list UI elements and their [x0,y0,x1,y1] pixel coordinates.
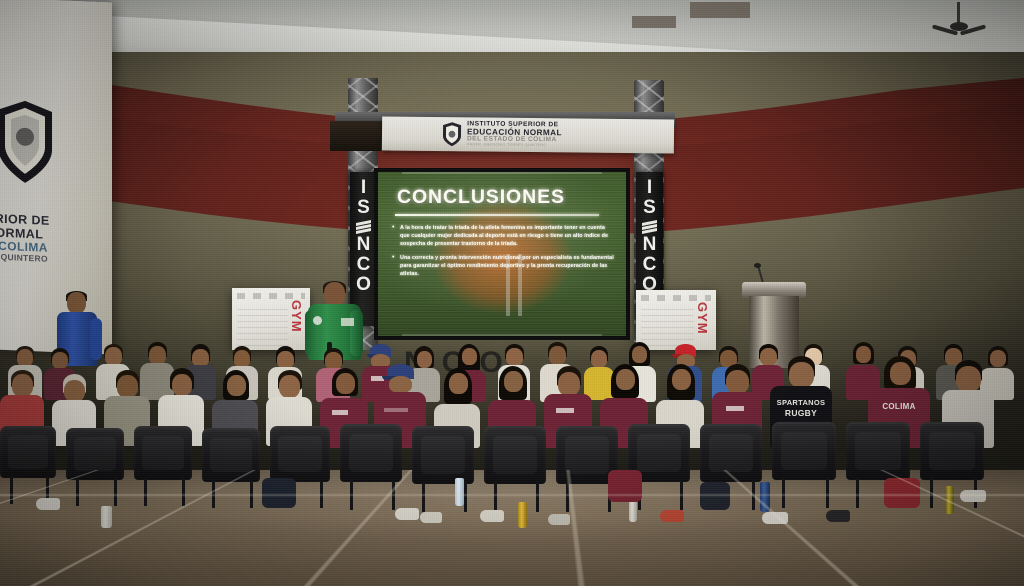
chair-12 [772,422,836,480]
chair-leg-8 [494,482,497,512]
team-logo [726,406,744,411]
fan-rod [957,2,960,24]
tower-left-letter-3: C [357,255,371,275]
head [52,352,68,369]
sneaker-8 [960,490,986,502]
water-bottle-6 [101,506,112,528]
slide-bullet-2-text: Una correcta y pronta intervención nutri… [400,254,614,278]
presenter-shirt-logo [313,316,322,325]
sneaker-2 [420,512,442,523]
header-institution-banner: INSTITUTO SUPERIOR DE EDUCACIÓN NORMAL D… [382,116,674,153]
chair-8 [484,426,546,484]
head [172,374,192,396]
standing-attendee-head [67,292,86,314]
side-banner-right-logos [641,295,711,301]
chair-leg-14 [930,478,933,508]
head [117,375,138,398]
ceiling-vent-2 [690,2,750,18]
sneaker-9 [36,498,60,510]
sneaker-7 [826,510,850,522]
chair-1 [0,426,56,478]
chair-4 [202,428,260,482]
chair-5 [270,426,330,482]
head [549,346,566,365]
chair-2 [66,428,124,480]
chair-3 [134,426,192,480]
sneaker-1 [395,508,419,520]
water-bottle-5 [945,486,954,514]
shirt-text-spartanos: SPARTANOS [770,398,832,407]
sneaker-6 [762,512,788,524]
presenter-head [324,282,345,306]
chair-leg-6b [392,480,395,510]
chair-leg-7b [464,482,467,512]
team-logo [556,408,574,413]
slide-title-underline [395,214,599,216]
head [506,348,523,366]
projection-screen: CONCLUSIONES • A la hora de tratar la tr… [378,172,626,336]
sneaker-3 [480,510,504,522]
audience: SPARTANOS RUGBY COLIMA [0,330,1024,530]
chair-14 [920,422,984,480]
head [504,371,523,392]
head [449,373,468,394]
institution-crest-icon [0,98,56,187]
water-bottle-2 [760,482,770,512]
tower-right-letter-1: S [643,198,656,218]
shirt-text-colima: COLIMA [868,402,930,411]
chair-7 [412,426,474,484]
ceiling-vent-3 [632,16,676,28]
head [890,362,911,385]
chair-11 [700,424,762,482]
slide-bullet-2: • Una correcta y pronta intervención nut… [392,254,614,278]
sneaker-4 [548,514,570,525]
head [789,362,814,388]
head [956,366,981,392]
slide-title: CONCLUSIONES [397,186,565,209]
chair-leg-12b [826,478,829,508]
chair-leg-12 [782,478,785,508]
chair-6 [340,424,402,482]
chair-leg-4b [250,480,253,508]
slide-bullet-1: • A la hora de tratar la tríada de la at… [392,224,614,248]
tower-right-letter-2: N [643,235,657,255]
head [616,369,635,390]
bullet-marker-2: • [392,254,396,278]
tower-right-letter-0: I [647,178,652,198]
left-banner-text: ERIOR DE NORMAL E COLIMA ES QUINTERO [0,211,112,267]
head [12,374,33,397]
slide-bullet-list: • A la hora de tratar la tríada de la at… [392,224,614,285]
backpack-4 [700,482,730,510]
water-bottle-1 [455,478,464,506]
tower-right-letter-3: C [643,255,657,275]
sneaker-5 [660,510,684,522]
shirt-text-rugby: RUGBY [770,408,832,418]
tower-left-letter-2: N [357,235,371,255]
head [336,373,355,394]
head [672,369,691,390]
chair-13 [846,422,910,480]
chair-leg-9 [566,482,569,512]
head [558,372,580,396]
chair-leg-2 [76,478,79,506]
team-logo-stripe [384,408,408,412]
chair-leg-13 [856,478,859,508]
chair-leg-1 [10,476,13,504]
head [389,376,412,393]
head [279,375,300,398]
conference-hall-photo: ERIOR DE NORMAL E COLIMA ES QUINTERO I S… [0,0,1024,586]
head [64,380,85,402]
backpack-1 [262,478,296,508]
tower-left-letter-0: I [361,178,366,198]
chair-leg-4 [212,480,215,508]
water-bottle-3 [518,502,527,528]
head [726,370,749,394]
presenter-name-badge [341,318,354,326]
head [462,348,477,365]
header-banner-text: INSTITUTO SUPERIOR DE EDUCACIÓN NORMAL D… [467,122,562,148]
isenco-wave-icon-right [642,220,657,234]
chair-leg-3b [182,478,185,506]
chair-leg-2b [114,478,117,506]
backpack-3 [884,478,920,508]
tower-left-letter-1: S [357,198,370,218]
ceiling-fan-icon [936,2,982,42]
head [227,375,246,396]
lectern-mic-icon [754,263,761,268]
header-crest-icon [442,121,462,147]
chair-leg-6 [350,480,353,510]
chair-leg-5b [320,480,323,508]
chair-leg-3 [144,478,147,506]
isenco-wave-icon-left [356,220,371,234]
chair-leg-10b [680,480,683,510]
chair-leg-11b [752,480,755,510]
team-logo [332,410,348,415]
side-banner-left-logos [237,293,305,299]
slide-bullet-1-text: A la hora de tratar la tríada de la atle… [400,224,614,248]
head [632,346,647,363]
backpack-2 [608,470,642,502]
chair-leg-7 [422,482,425,512]
bullet-marker-1: • [392,224,396,248]
chair-leg-8b [536,482,539,512]
